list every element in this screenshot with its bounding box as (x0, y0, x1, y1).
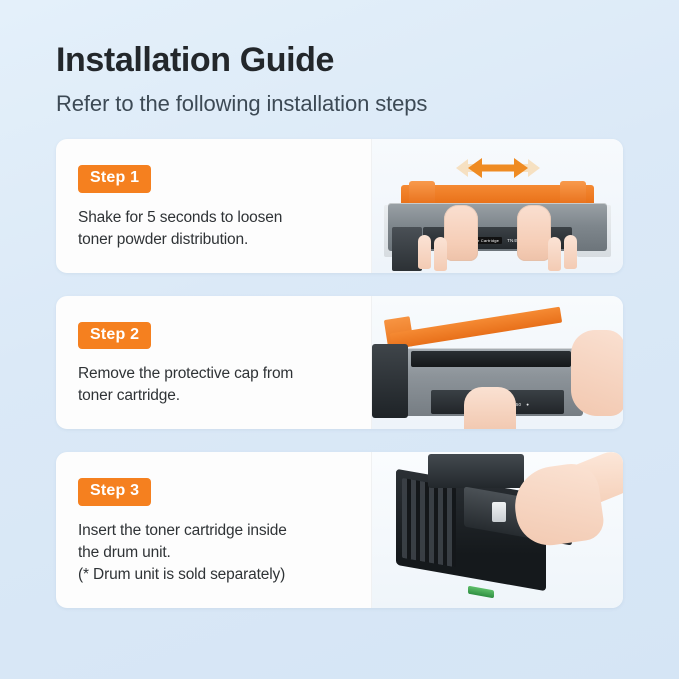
page-title: Installation Guide (56, 42, 679, 79)
drum-unit-top (428, 454, 524, 488)
page-subtitle: Refer to the following installation step… (56, 91, 679, 117)
step-card-1: Step 1 Shake for 5 seconds to loosen ton… (56, 139, 623, 272)
cartridge-end-cap (372, 344, 408, 418)
step-3-badge: Step 3 (78, 478, 151, 505)
cartridge-roller (411, 351, 571, 367)
step-3-text-panel: Step 3 Insert the toner cartridge inside… (56, 452, 372, 607)
step-1-description: Shake for 5 seconds to loosen toner powd… (78, 207, 351, 251)
hand-left (444, 205, 478, 261)
finger-4 (548, 237, 561, 271)
finger-3 (564, 235, 577, 269)
step-3-description: Insert the toner cartridge inside the dr… (78, 520, 351, 586)
step-card-3: Step 3 Insert the toner cartridge inside… (56, 452, 623, 607)
hand-right (517, 205, 551, 261)
page-header: Installation Guide Refer to the followin… (0, 0, 679, 117)
step-1-badge: Step 1 (78, 165, 151, 192)
steps-list: Step 1 Shake for 5 seconds to loosen ton… (0, 139, 679, 607)
toner-cartridge-graphic-1: Toner Cartridge TN450 ● (388, 185, 607, 257)
protective-cap (390, 306, 562, 349)
step-3-illustration (372, 452, 623, 607)
cartridge-handle-tab (492, 502, 506, 522)
step-card-2: Step 2 Remove the protective cap from to… (56, 296, 623, 429)
cartridge-orange-cap (401, 185, 594, 205)
hand-pulling-cap (571, 330, 623, 416)
step-2-description: Remove the protective cap from toner car… (78, 363, 351, 407)
hand-holding-cartridge (464, 387, 516, 429)
step-1-illustration: Toner Cartridge TN450 ● (372, 139, 623, 272)
finger-1 (418, 235, 431, 269)
drum-unit-green-part (468, 585, 494, 598)
step-2-text-panel: Step 2 Remove the protective cap from to… (56, 296, 372, 429)
step-1-text-panel: Step 1 Shake for 5 seconds to loosen ton… (56, 139, 372, 272)
cartridge-logo-icon: ● (526, 402, 529, 407)
drum-unit-grille (402, 478, 456, 568)
step-2-illustration: Toner Cartridge TN450 ● (372, 296, 623, 429)
step-2-badge: Step 2 (78, 322, 151, 349)
finger-2 (434, 237, 447, 271)
shake-double-arrow-icon (438, 155, 558, 181)
